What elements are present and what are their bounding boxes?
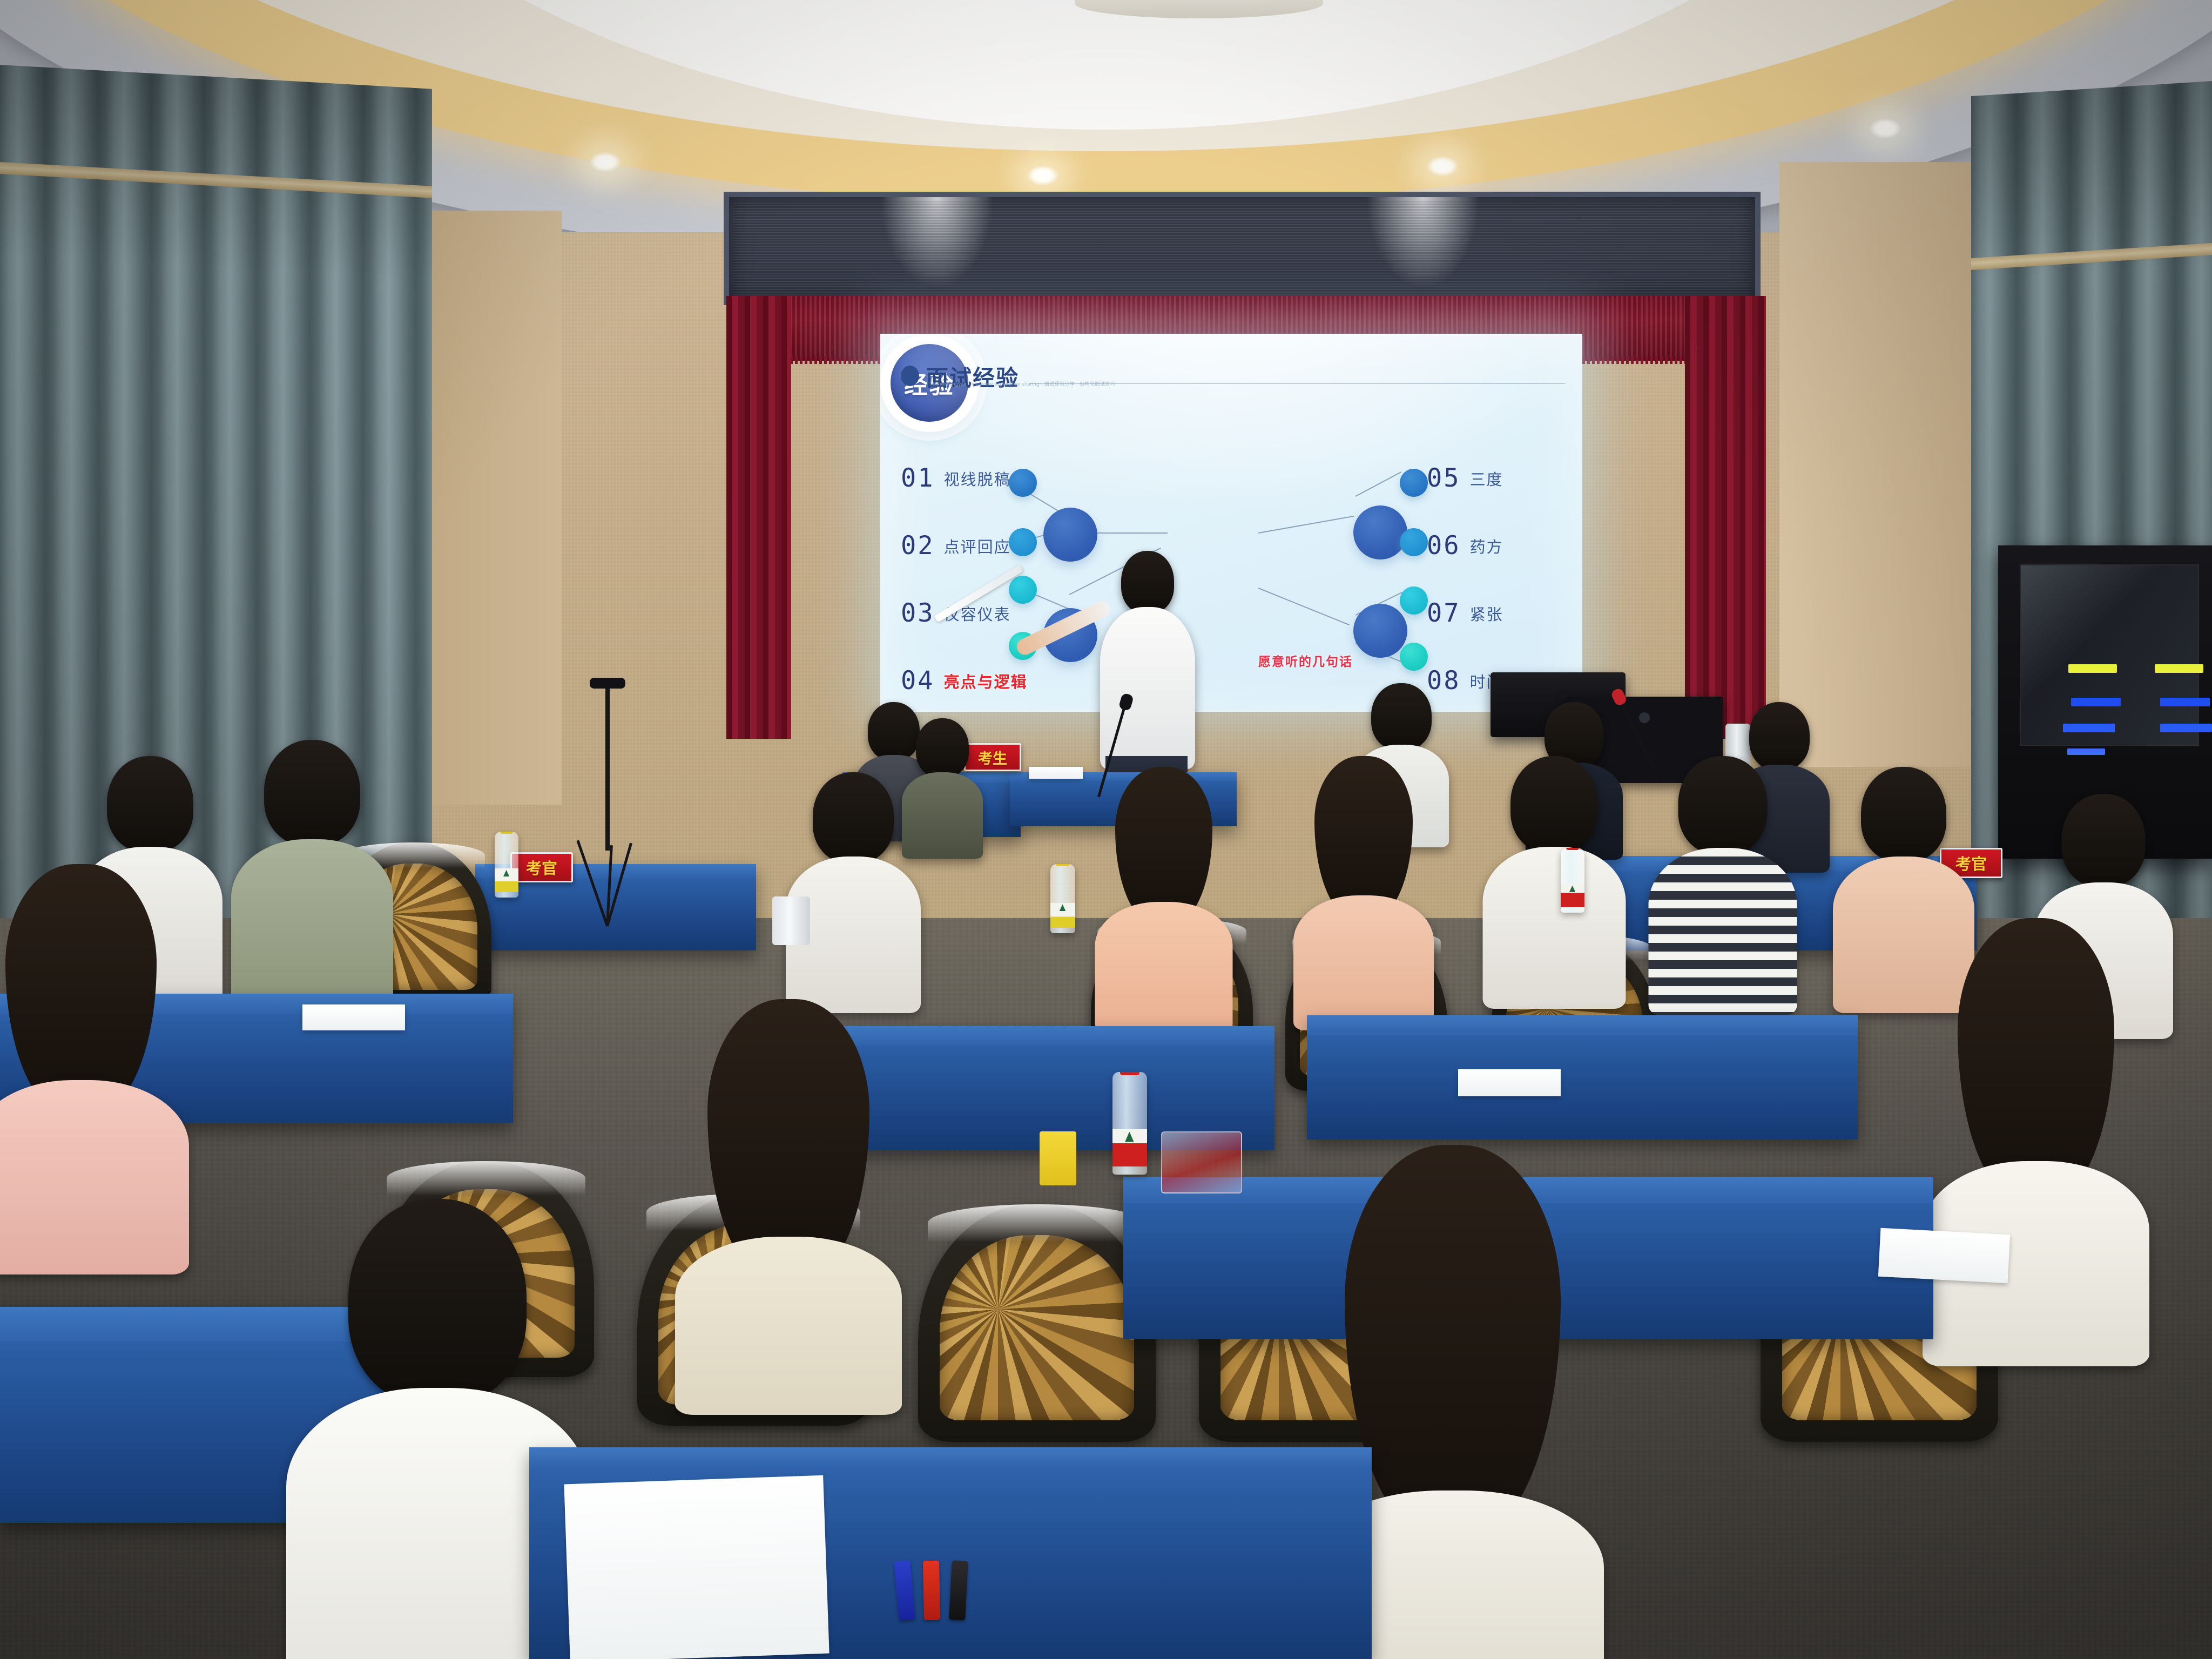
audience-member-foreground — [324, 1199, 551, 1659]
notebook — [1458, 1069, 1561, 1096]
bottle-label — [1050, 903, 1075, 928]
torso-striped — [1649, 848, 1797, 1015]
head — [813, 772, 894, 863]
torso — [1293, 895, 1434, 1030]
bottle-label — [1112, 1129, 1147, 1166]
table-top — [529, 1447, 1372, 1468]
list-item: 07 紧张 — [1427, 598, 1503, 628]
audience-member — [907, 718, 977, 848]
item-number: 03 — [901, 598, 935, 628]
long-hair — [1958, 918, 2114, 1199]
bottle-label — [495, 868, 518, 892]
audience-member — [248, 740, 375, 994]
diagram-hub-node — [1353, 505, 1407, 559]
torso — [231, 839, 393, 1012]
torso — [1095, 902, 1233, 1031]
torso — [1833, 857, 1974, 1013]
audience-member — [799, 772, 907, 999]
slide-header: 面试经验 — [901, 360, 1565, 392]
placard-text: 考生 — [978, 747, 1007, 768]
item-label: 三度 — [1470, 467, 1503, 490]
rack-led-yellow — [2155, 664, 2203, 673]
downlight-icon — [1026, 165, 1060, 186]
tripod-leg — [576, 840, 608, 926]
chair-pad — [940, 1235, 1135, 1420]
item-label: 视线脱稿 — [944, 467, 1011, 490]
seminar-room-photo: 面试经验 Mianshi jingyan · interview experie… — [0, 0, 2212, 1659]
item-label: 点评回应 — [944, 535, 1011, 557]
yellow-box — [1040, 1131, 1076, 1185]
placard-examiner-left: 考官 — [510, 852, 573, 882]
head — [1861, 767, 1946, 862]
long-hair — [1345, 1145, 1561, 1534]
chair-sheen — [928, 1204, 1147, 1242]
rack-led-blue — [2067, 748, 2105, 755]
long-hair — [1314, 756, 1413, 918]
table-top — [1307, 1015, 1858, 1035]
torso — [675, 1237, 902, 1415]
downlight-icon — [1869, 118, 1902, 139]
diagram-hub-node — [1043, 508, 1097, 562]
long-hair — [1115, 767, 1212, 923]
audience-member — [1307, 756, 1420, 994]
bottle-label — [1561, 884, 1584, 907]
water-bottle-nongfu — [1112, 1072, 1147, 1175]
marker-red — [923, 1561, 940, 1621]
diagram-hub-node — [1353, 604, 1407, 658]
downlight-icon — [1426, 156, 1459, 177]
head — [1678, 756, 1768, 854]
rack-glass-door — [2020, 564, 2200, 746]
paper-cup — [772, 896, 810, 945]
diagram-leaf-node-06 — [1400, 528, 1428, 556]
notebook — [1878, 1228, 2010, 1283]
torso — [902, 772, 983, 859]
list-item: 02 点评回应 — [901, 531, 1028, 561]
title-bullet-icon — [901, 366, 919, 386]
camera-tripod — [572, 678, 643, 926]
downlight-icon — [589, 151, 622, 173]
upper-wall-panel — [724, 192, 1761, 305]
clear-pouch — [1161, 1131, 1242, 1193]
list-item: 04 亮点与逻辑 — [901, 666, 1028, 696]
slide-bottom-red-text: 愿意听的几句话 — [1258, 651, 1353, 670]
audience-member-foreground — [702, 999, 875, 1377]
water-bottle — [1050, 864, 1075, 933]
presenter-head — [1121, 551, 1174, 613]
audience-member — [1107, 767, 1220, 999]
audience-member-foreground — [0, 864, 162, 1242]
camera-icon — [590, 678, 625, 689]
tripod-pole — [605, 689, 610, 851]
projection-screen: 面试经验 Mianshi jingyan · interview experie… — [880, 334, 1582, 712]
head — [2062, 794, 2146, 887]
head — [264, 740, 360, 846]
long-hair — [5, 864, 157, 1112]
rack-led-blue — [2063, 724, 2115, 732]
notebook — [302, 1004, 405, 1030]
water-bottle — [495, 832, 518, 898]
head — [348, 1199, 527, 1404]
diagram-leaf-node-08 — [1400, 643, 1428, 671]
diagram-leaf-node-07 — [1400, 586, 1428, 615]
item-label: 紧张 — [1470, 602, 1503, 625]
item-label: 药方 — [1470, 535, 1503, 557]
slide-list-right: 05 三度 06 药方 07 紧张 08 时间 — [1427, 463, 1503, 696]
diagram-leaf-node-05 — [1400, 469, 1428, 497]
left-wall-panel — [427, 211, 562, 805]
head — [1510, 756, 1598, 853]
audience-member — [1496, 756, 1612, 994]
head — [107, 756, 193, 852]
audience-member — [1663, 756, 1782, 999]
panel-light-glint — [1366, 197, 1480, 289]
bottle-cap — [1120, 1072, 1139, 1075]
edge-core-to-hub — [1258, 588, 1350, 625]
audience-member — [1847, 767, 1960, 999]
item-number: 01 — [901, 463, 935, 493]
bottle-cap — [1566, 848, 1580, 850]
stage-curtain-right — [1685, 296, 1766, 739]
audience-table-right — [1307, 1015, 1858, 1139]
right-wall-panel — [1779, 162, 1995, 767]
item-number: 02 — [901, 531, 935, 561]
head — [916, 718, 969, 778]
page-title: 面试经验 — [926, 360, 1019, 392]
rack-led-blue — [2071, 698, 2121, 706]
item-number: 07 — [1427, 598, 1461, 628]
rack-led-yellow — [2068, 664, 2117, 673]
podium-papers — [1029, 767, 1083, 779]
item-number: 06 — [1427, 531, 1461, 561]
banquet-chair — [918, 1204, 1156, 1442]
rack-led-blue — [2160, 698, 2210, 706]
rack-led-blue — [2160, 724, 2212, 732]
torso — [1482, 847, 1626, 1009]
water-bottle — [1561, 848, 1584, 913]
marker-black — [949, 1560, 968, 1620]
bottle-cap — [500, 832, 514, 834]
front-papers — [564, 1475, 829, 1659]
list-item: 06 药方 — [1427, 531, 1503, 561]
chair-sheen — [387, 1161, 585, 1196]
head — [1371, 683, 1432, 750]
placard-text: 考官 — [526, 856, 557, 879]
panel-light-glint — [880, 197, 994, 289]
bottle-cap — [1056, 864, 1070, 866]
audience-member-foreground — [1339, 1145, 1566, 1659]
stage-curtain-left — [726, 296, 791, 739]
torso — [0, 1080, 189, 1274]
item-label-highlighted: 亮点与逻辑 — [944, 670, 1028, 692]
list-item: 01 视线脱稿 — [901, 463, 1028, 493]
item-number: 05 — [1427, 463, 1461, 493]
list-item: 05 三度 — [1427, 463, 1503, 493]
slide-subtitle: Mianshi jingyan · interview experience s… — [930, 380, 1115, 387]
item-number: 04 — [901, 666, 935, 696]
